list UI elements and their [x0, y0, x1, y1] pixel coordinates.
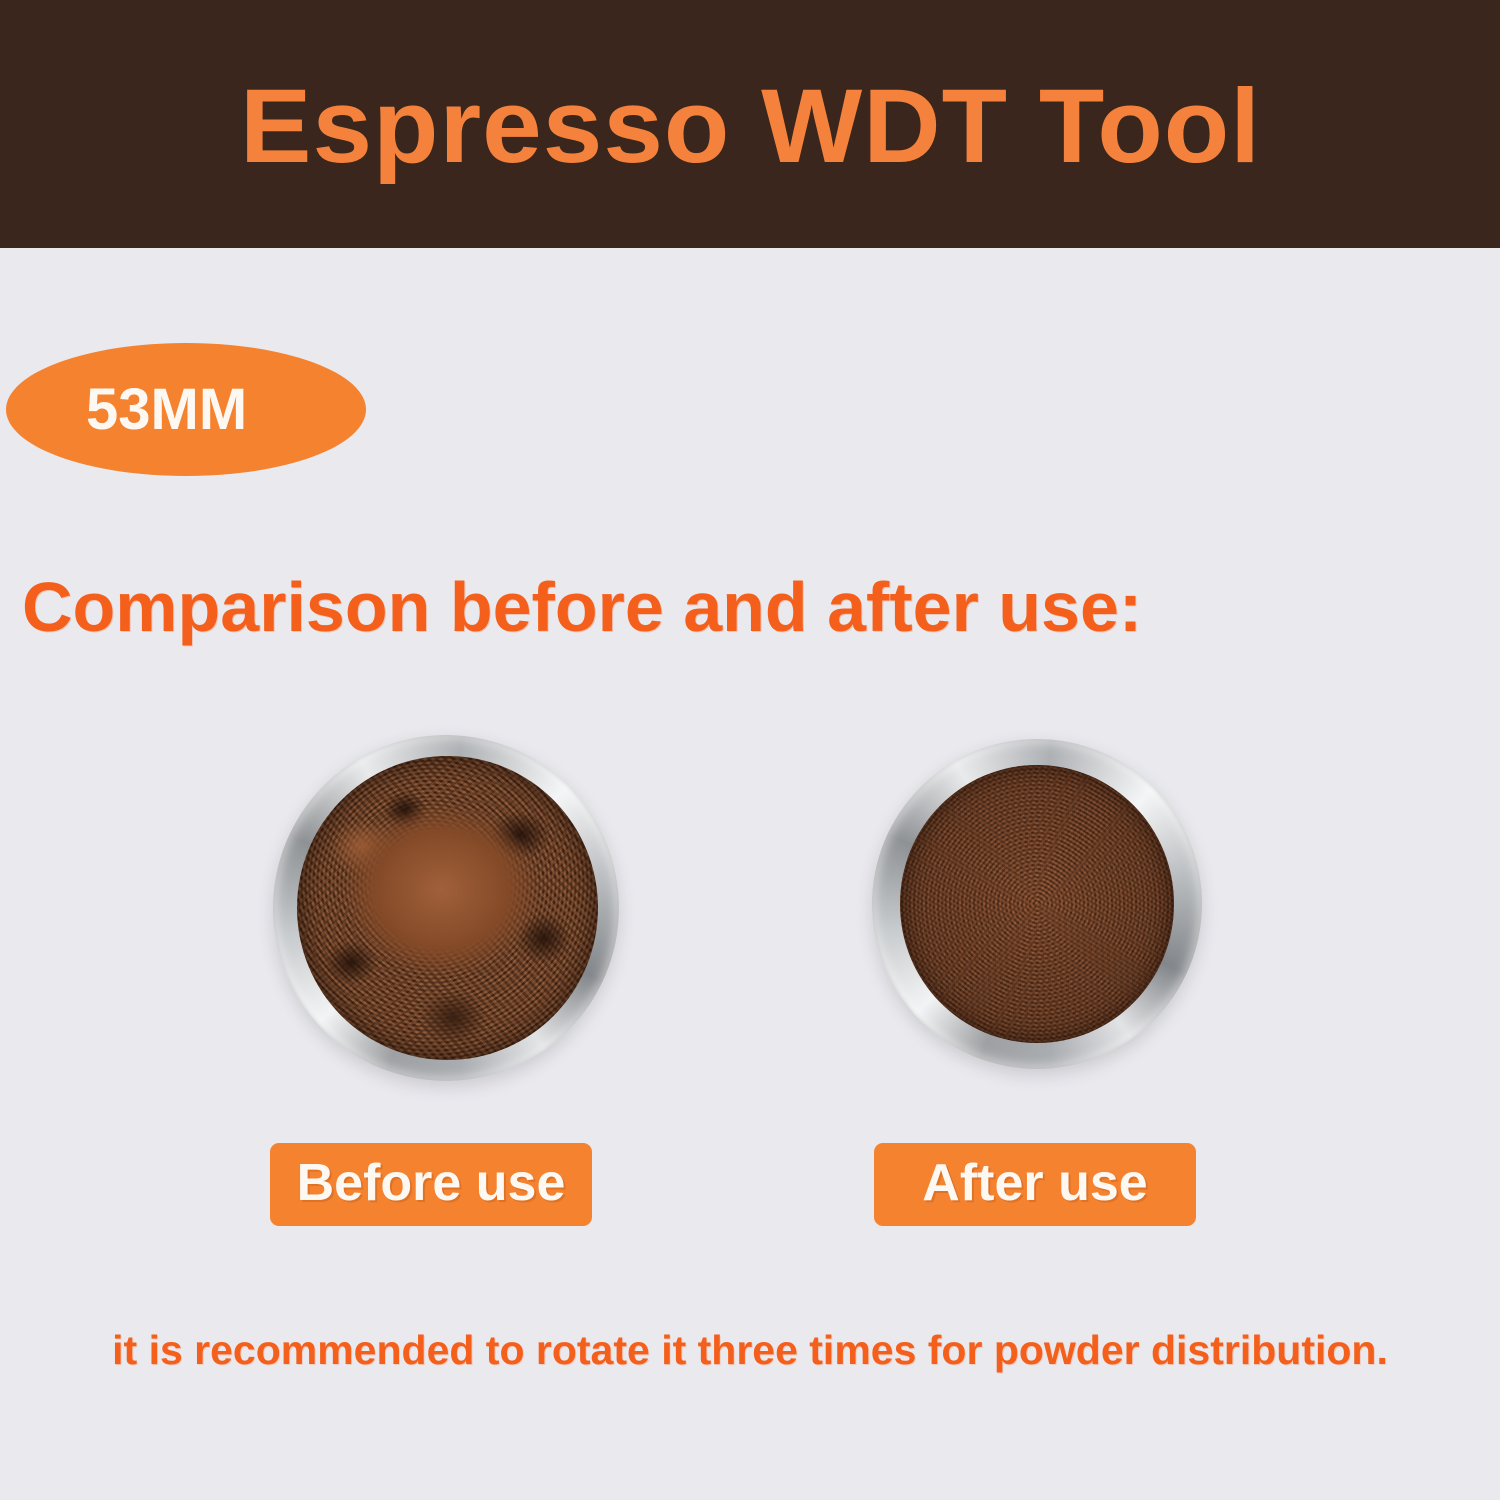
basket-image-after — [872, 739, 1202, 1069]
size-badge-label: 53MM — [86, 381, 247, 439]
header-banner: Espresso WDT Tool — [0, 0, 1500, 248]
before-use-label-text: Before use — [297, 1157, 566, 1209]
size-badge: 53MM — [6, 343, 366, 476]
comparison-heading: Comparison before and after use: — [22, 572, 1142, 642]
coffee-grounds-clumpy — [297, 756, 598, 1060]
after-use-label-text: After use — [922, 1157, 1147, 1209]
footer-note: it is recommended to rotate it three tim… — [0, 1330, 1500, 1371]
before-use-label: Before use — [270, 1143, 592, 1226]
basket-image-before — [273, 735, 619, 1081]
coffee-grounds-even — [900, 765, 1174, 1042]
page-title: Espresso WDT Tool — [240, 74, 1261, 179]
after-use-label: After use — [874, 1143, 1196, 1226]
comparison-row — [0, 735, 1500, 1085]
